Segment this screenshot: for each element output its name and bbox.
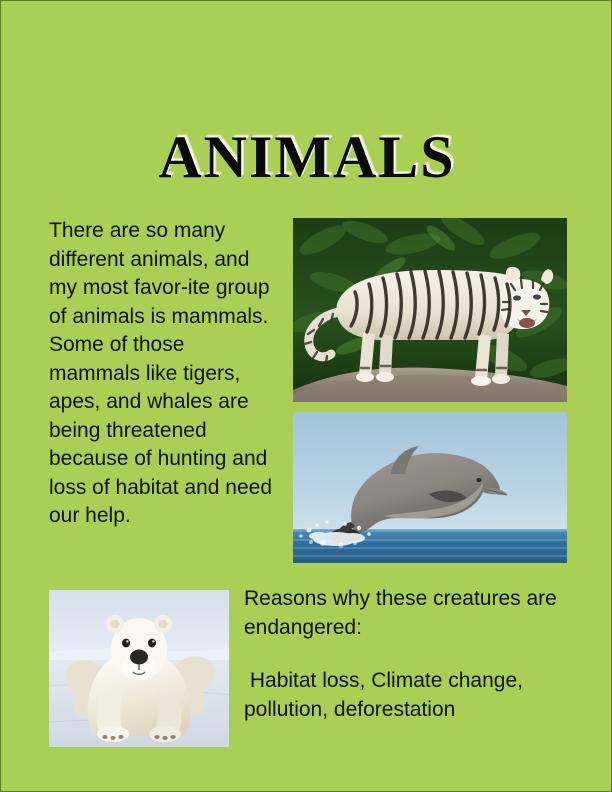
white-tiger-photo: [293, 218, 567, 402]
polar-bear-photo: [49, 590, 229, 747]
dolphin-illustration: [293, 412, 567, 563]
page-title: ANIMALS: [1, 125, 612, 189]
polar-bear-illustration: [49, 590, 229, 747]
reasons-list: Habitat loss, Climate change, pollution,…: [244, 667, 584, 724]
dolphin-photo: [293, 412, 567, 563]
poster-page: ANIMALS There are so many different anim…: [0, 0, 612, 792]
reasons-heading: Reasons why these creatures are endanger…: [244, 585, 574, 642]
intro-paragraph: There are so many different animals, and…: [49, 217, 281, 531]
white-tiger-illustration: [293, 218, 567, 402]
